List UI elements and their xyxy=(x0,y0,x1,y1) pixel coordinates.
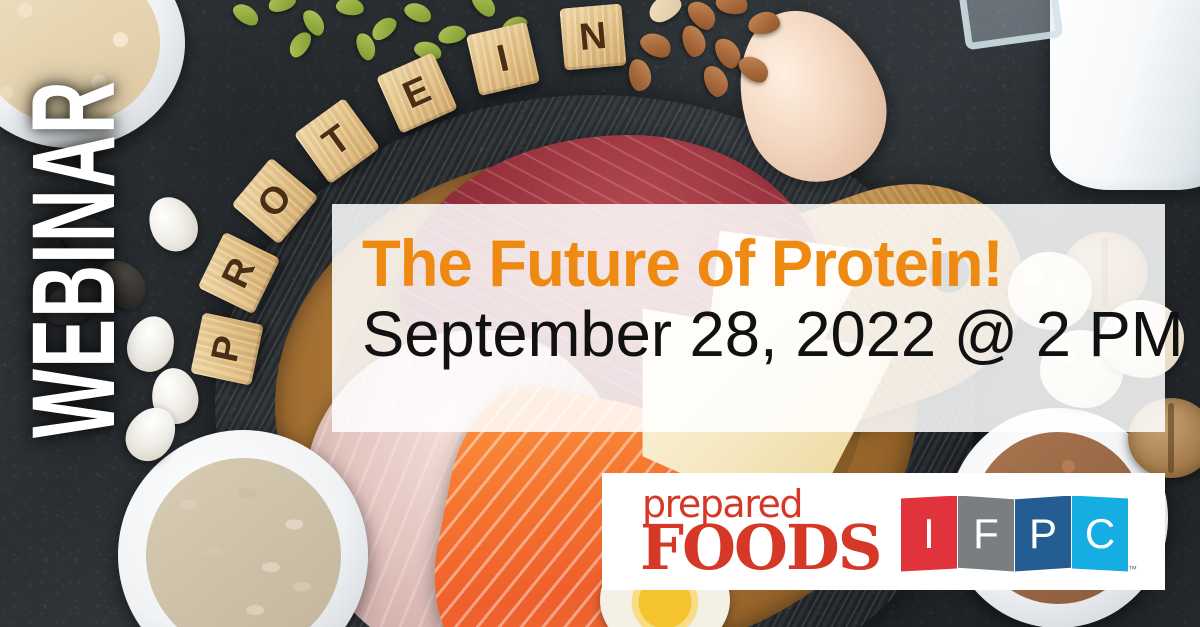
ifpc-letter-c: C xyxy=(1072,496,1128,572)
webinar-datetime: September 28, 2022 @ 2 PM EDT xyxy=(362,301,1129,368)
letter-block-p: P xyxy=(190,312,264,386)
logo-panel: prepared FOODS I F P C ™ xyxy=(602,473,1165,590)
ifpc-letter-i: I xyxy=(901,496,957,572)
milk-pitcher xyxy=(1050,0,1200,190)
webinar-promo-banner: P R O T E I N WEBINAR The Future of Prot… xyxy=(0,0,1200,627)
ifpc-letter-p: P xyxy=(1015,496,1071,572)
prepared-foods-logo-line2: FOODS xyxy=(640,517,881,579)
sunflower-seeds xyxy=(146,458,341,627)
prepared-foods-logo[interactable]: prepared FOODS xyxy=(640,485,881,579)
page-title: The Future of Protein! xyxy=(362,230,1106,297)
trademark-symbol: ™ xyxy=(1128,564,1137,574)
letter-block-n: N xyxy=(559,3,626,70)
title-panel: The Future of Protein! September 28, 202… xyxy=(332,204,1165,432)
ifpc-logo[interactable]: I F P C ™ xyxy=(901,492,1125,572)
webinar-vertical-label: WEBINAR xyxy=(15,73,133,445)
ifpc-letter-f: F xyxy=(958,496,1014,572)
